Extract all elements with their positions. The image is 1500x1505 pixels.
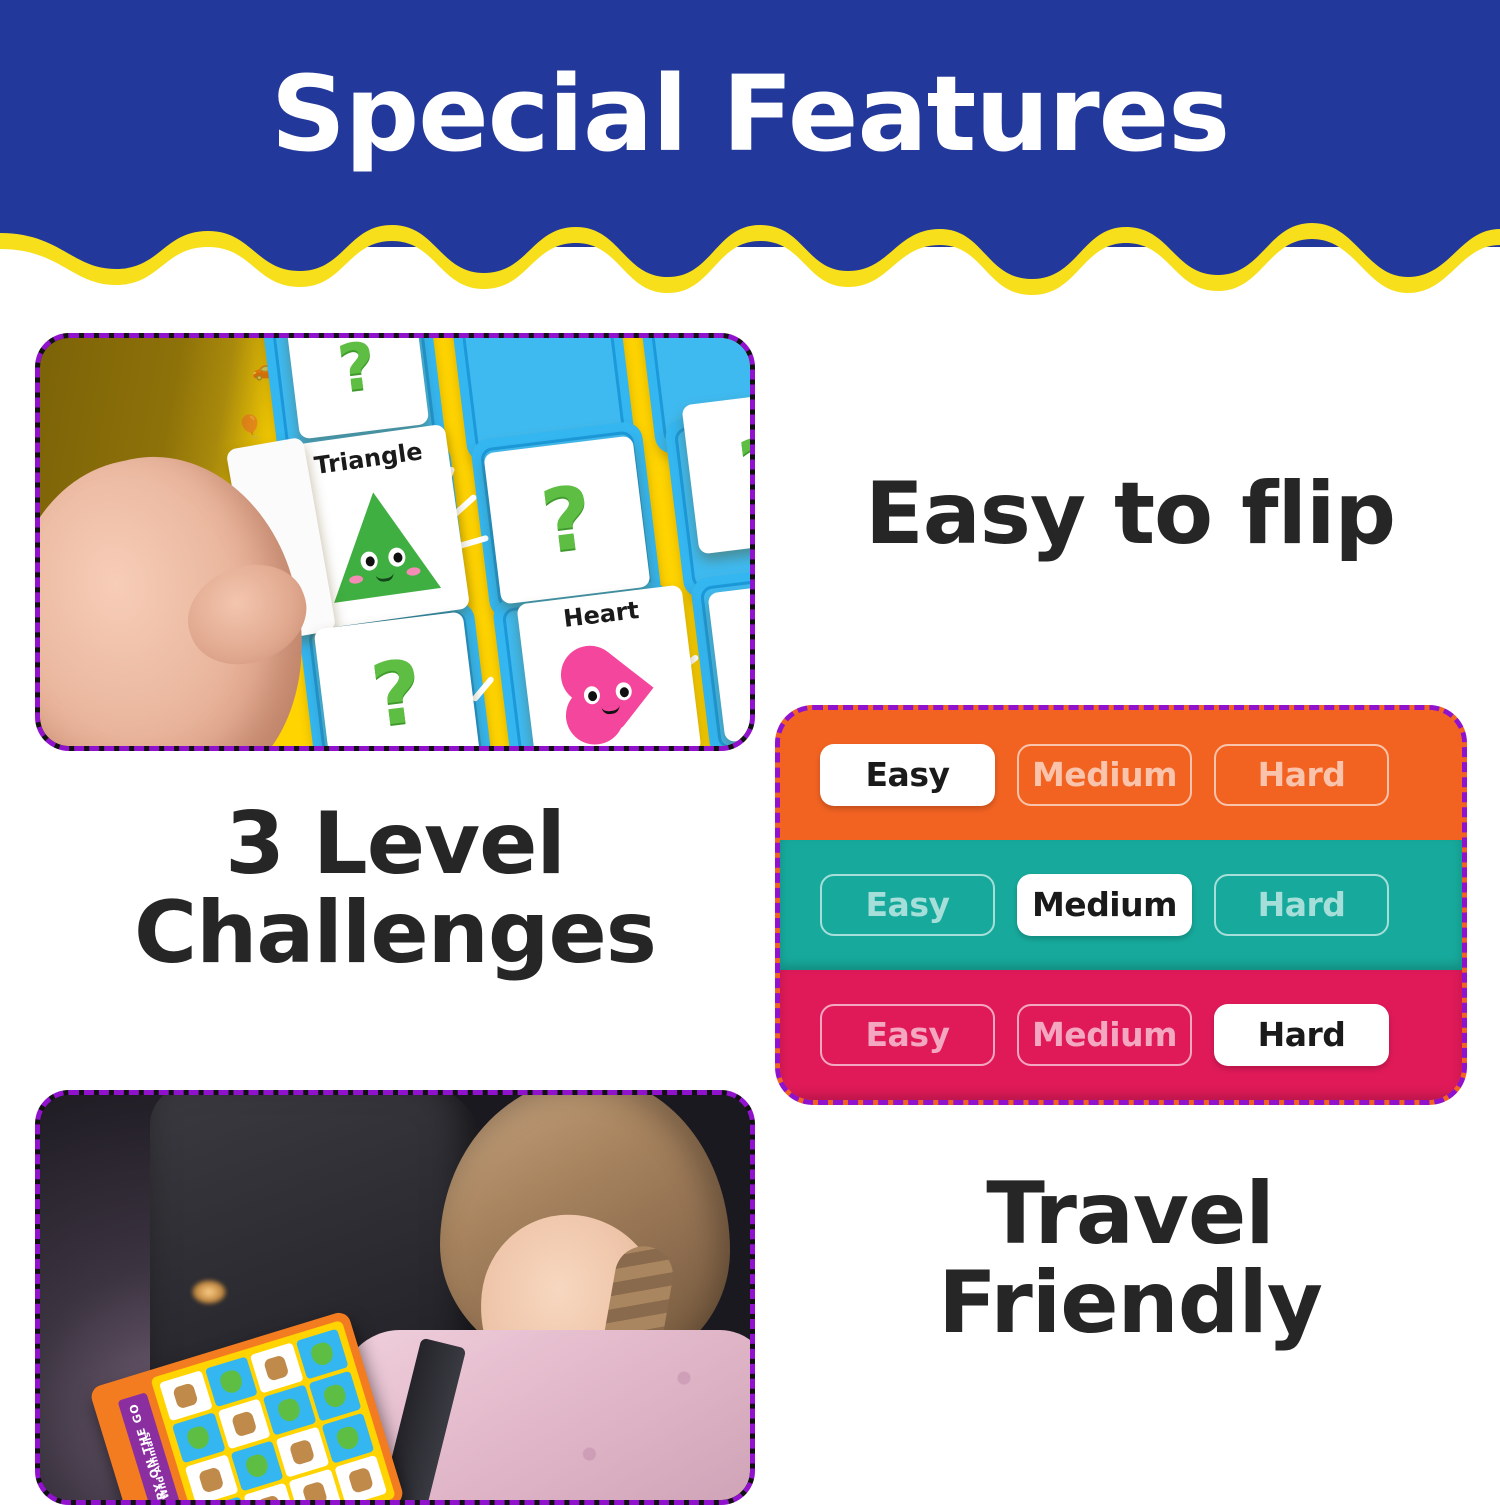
- level-selector: Easy Medium Hard Easy Medium Hard Easy M…: [775, 705, 1467, 1105]
- memory-board-cell[interactable]: [185, 1454, 238, 1500]
- flip-card-triangle-label: Triangle: [288, 436, 450, 482]
- flip-card-heart[interactable]: Heart: [516, 585, 701, 746]
- level-option-hard-selected[interactable]: Hard: [1214, 1004, 1389, 1066]
- level-option-easy[interactable]: Easy: [820, 1004, 995, 1066]
- memory-board-cell[interactable]: [334, 1455, 387, 1500]
- headline-three-level-line2: Challenges: [50, 889, 740, 978]
- memory-board-cell[interactable]: [159, 1370, 212, 1421]
- headline-three-level-challenges: 3 Level Challenges: [50, 800, 740, 979]
- memory-board-cell[interactable]: [308, 1371, 361, 1422]
- level-row-hard: Easy Medium Hard: [780, 970, 1462, 1100]
- memory-board-cell[interactable]: [263, 1385, 316, 1436]
- green-triangle-character: [320, 485, 441, 603]
- photo-easy-to-flip-inner: 🚗 🎈 ✈ 🐙 🐝 🍎 ? Triangle: [40, 338, 750, 746]
- page-title: Special Features: [0, 62, 1500, 166]
- flip-card-partial[interactable]: ?: [285, 338, 430, 439]
- headline-three-level-line1: 3 Level: [50, 800, 740, 889]
- headline-travel-line2: Friendly: [790, 1259, 1470, 1348]
- level-option-hard[interactable]: Hard: [1214, 744, 1389, 806]
- memory-board-cell[interactable]: [250, 1343, 303, 1394]
- memory-board-cell[interactable]: [321, 1413, 374, 1464]
- level-option-hard[interactable]: Hard: [1214, 874, 1389, 936]
- memory-board-cell[interactable]: [172, 1412, 225, 1463]
- level-row-medium: Easy Medium Hard: [780, 840, 1462, 970]
- flip-card-hidden[interactable]: ?: [483, 435, 650, 604]
- level-row-easy: Easy Medium Hard: [780, 710, 1462, 840]
- memory-board-cell[interactable]: [204, 1356, 257, 1407]
- doodle-balloon-icon: 🎈: [236, 414, 263, 440]
- photo-travel-friendly: Wild Animals MEMORY ON THE GO: [35, 1090, 755, 1505]
- level-option-medium[interactable]: Medium: [1017, 744, 1192, 806]
- pink-heart-character: [556, 640, 664, 741]
- memory-board-cell[interactable]: [276, 1427, 329, 1478]
- question-mark-character: ?: [314, 611, 481, 746]
- photo-travel-friendly-inner: Wild Animals MEMORY ON THE GO: [40, 1095, 750, 1500]
- level-option-easy[interactable]: Easy: [820, 874, 995, 936]
- memory-board-cell[interactable]: [230, 1441, 283, 1492]
- level-option-medium[interactable]: Medium: [1017, 1004, 1192, 1066]
- question-mark-character: ?: [285, 338, 430, 439]
- scalloped-edge-decoration: [0, 215, 1500, 300]
- headline-easy-to-flip: Easy to flip: [790, 470, 1470, 559]
- headline-travel-friendly: Travel Friendly: [790, 1170, 1470, 1349]
- headline-travel-line1: Travel: [790, 1170, 1470, 1259]
- car-interior-light: [192, 1280, 226, 1304]
- photo-easy-to-flip: 🚗 🎈 ✈ 🐙 🐝 🍎 ? Triangle: [35, 333, 755, 751]
- flip-card-hidden[interactable]: ?: [314, 611, 481, 746]
- memory-board-cell[interactable]: [295, 1329, 348, 1380]
- memory-board-cell[interactable]: [217, 1398, 270, 1449]
- level-option-easy-selected[interactable]: Easy: [820, 744, 995, 806]
- question-mark-character: ?: [483, 435, 650, 604]
- header-band: Special Features: [0, 0, 1500, 300]
- level-option-medium-selected[interactable]: Medium: [1017, 874, 1192, 936]
